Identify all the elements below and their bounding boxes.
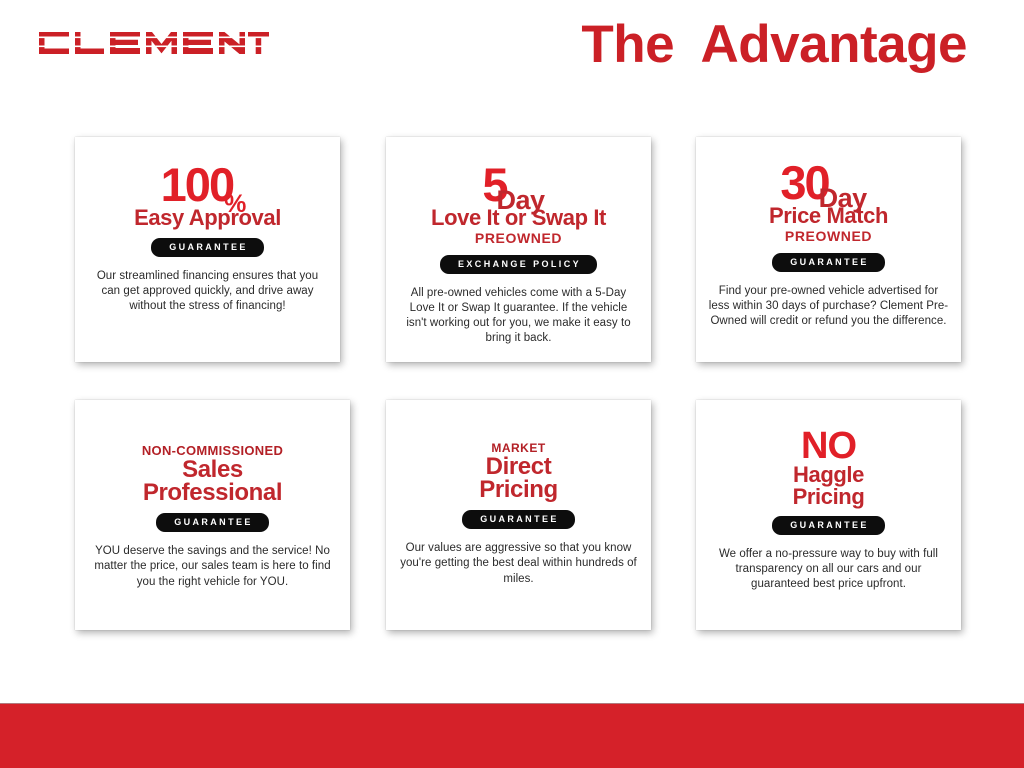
page-title: The Advantage — [581, 13, 967, 77]
card-subtitle: PREOWNED — [398, 231, 639, 246]
card-title: Sales — [87, 459, 338, 482]
advantage-card-love-it-or-swap-it[interactable]: 5Day Love It or Swap It PREOWNED EXCHANG… — [386, 137, 651, 362]
card-badge: GUARANTEE — [772, 516, 885, 535]
card-body: YOU deserve the savings and the service!… — [87, 544, 338, 590]
card-body: Find your pre-owned vehicle advertised f… — [708, 284, 949, 330]
card-unit-label: Day — [819, 185, 867, 212]
card-lockup: 5Day — [398, 163, 639, 206]
card-lockup: 30Day — [708, 161, 949, 204]
card-body: Our streamlined financing ensures that y… — [87, 269, 328, 315]
card-title: Direct — [398, 456, 639, 479]
card-title-second-line: Pricing — [398, 479, 639, 502]
card-title-second-line: Pricing — [708, 487, 949, 508]
advantage-card-easy-approval[interactable]: 100% Easy Approval GUARANTEE Our streaml… — [75, 137, 340, 362]
card-body: Our values are aggressive so that you kn… — [398, 541, 639, 587]
card-badge: GUARANTEE — [151, 238, 264, 257]
advantage-card-grid: 100% Easy Approval GUARANTEE Our streaml… — [0, 120, 1024, 660]
card-subtitle: PREOWNED — [708, 229, 949, 244]
clement-logo — [33, 23, 269, 63]
card-body: All pre-owned vehicles come with a 5-Day… — [398, 286, 639, 347]
card-badge: GUARANTEE — [156, 513, 269, 532]
card-title-second-line: Professional — [87, 482, 338, 505]
advantage-card-direct-pricing[interactable]: MARKET Direct Pricing GUARANTEE Our valu… — [386, 400, 651, 630]
card-body: We offer a no-pressure way to buy with f… — [708, 547, 949, 593]
card-percent-symbol: % — [224, 192, 245, 217]
advantage-card-sales-professional[interactable]: NON-COMMISSIONED Sales Professional GUAR… — [75, 400, 350, 630]
card-badge: GUARANTEE — [462, 510, 575, 529]
card-lockup: 100% — [87, 163, 328, 206]
page-header: The Advantage — [0, 0, 1024, 100]
card-badge: EXCHANGE POLICY — [440, 255, 597, 274]
card-unit-label: Day — [497, 187, 545, 214]
card-big-word: NO — [708, 428, 949, 464]
advantage-card-price-match[interactable]: 30Day Price Match PREOWNED GUARANTEE Fin… — [696, 137, 961, 362]
card-title: Haggle — [708, 465, 949, 486]
footer-red-bar — [0, 704, 1024, 768]
card-number: 100 — [161, 163, 233, 206]
advantage-card-no-haggle-pricing[interactable]: NO Haggle Pricing GUARANTEE We offer a n… — [696, 400, 961, 630]
card-badge: GUARANTEE — [772, 253, 885, 272]
